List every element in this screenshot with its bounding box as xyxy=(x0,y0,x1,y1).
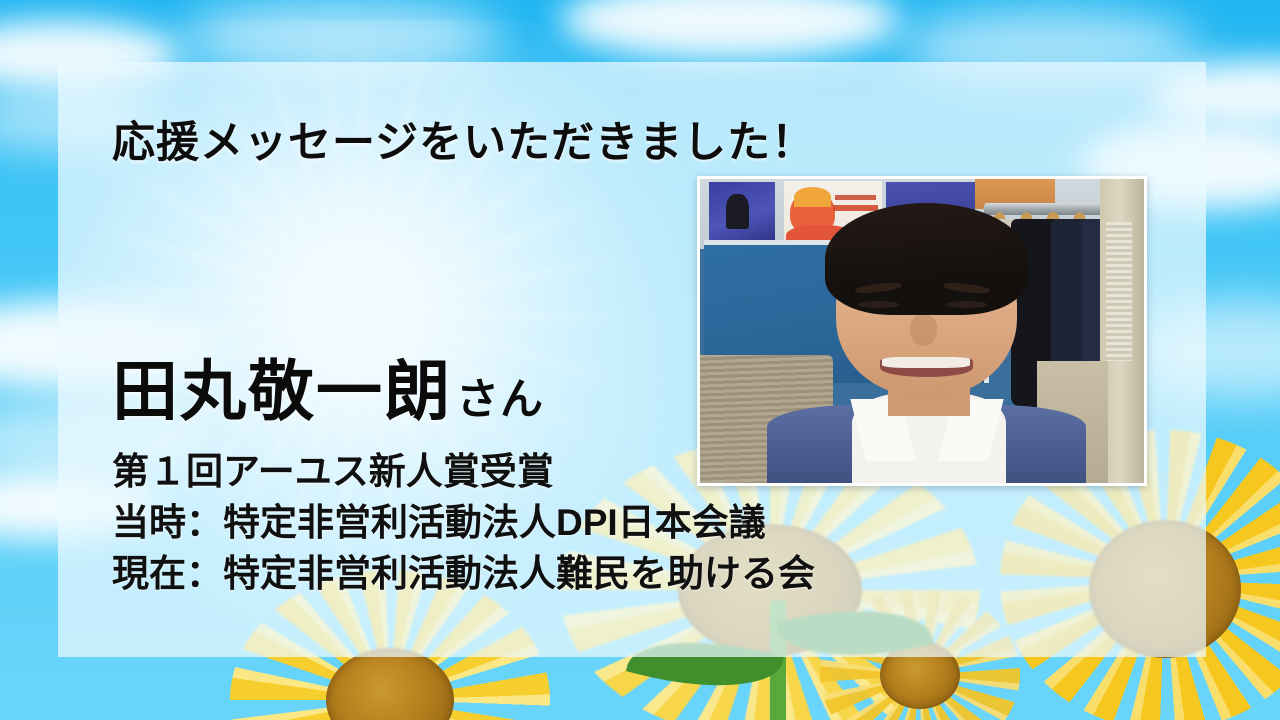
portrait-photo-frame xyxy=(697,176,1147,486)
photo-person-hair xyxy=(825,203,1029,315)
photo-person-eye-right xyxy=(946,301,987,308)
person-honorific: さん xyxy=(456,365,544,427)
page-title: 応援メッセージをいただきました！ xyxy=(112,108,815,170)
subtitle-line-current: 現在：特定非営利活動法人難民を助ける会 xyxy=(112,548,815,599)
photo-person xyxy=(789,203,1064,483)
photo-person-mouth xyxy=(880,357,974,377)
photo-person-nose xyxy=(910,315,938,346)
person-name-row: 田丸敬一朗 さん xyxy=(112,338,544,434)
portrait-photo xyxy=(700,179,1144,483)
poster-text-line-1 xyxy=(835,195,876,200)
photo-person-eye-left xyxy=(858,301,899,308)
subtitle-line-former: 当時：特定非営利活動法人DPI日本会議 xyxy=(112,497,815,548)
person-name: 田丸敬一朗 xyxy=(112,338,452,434)
slide-canvas: 応援メッセージをいただきました！ 田丸敬一朗 さん 第１回アーユス新人賞受賞 当… xyxy=(0,0,1280,720)
photo-poster-blue-left xyxy=(709,182,776,246)
